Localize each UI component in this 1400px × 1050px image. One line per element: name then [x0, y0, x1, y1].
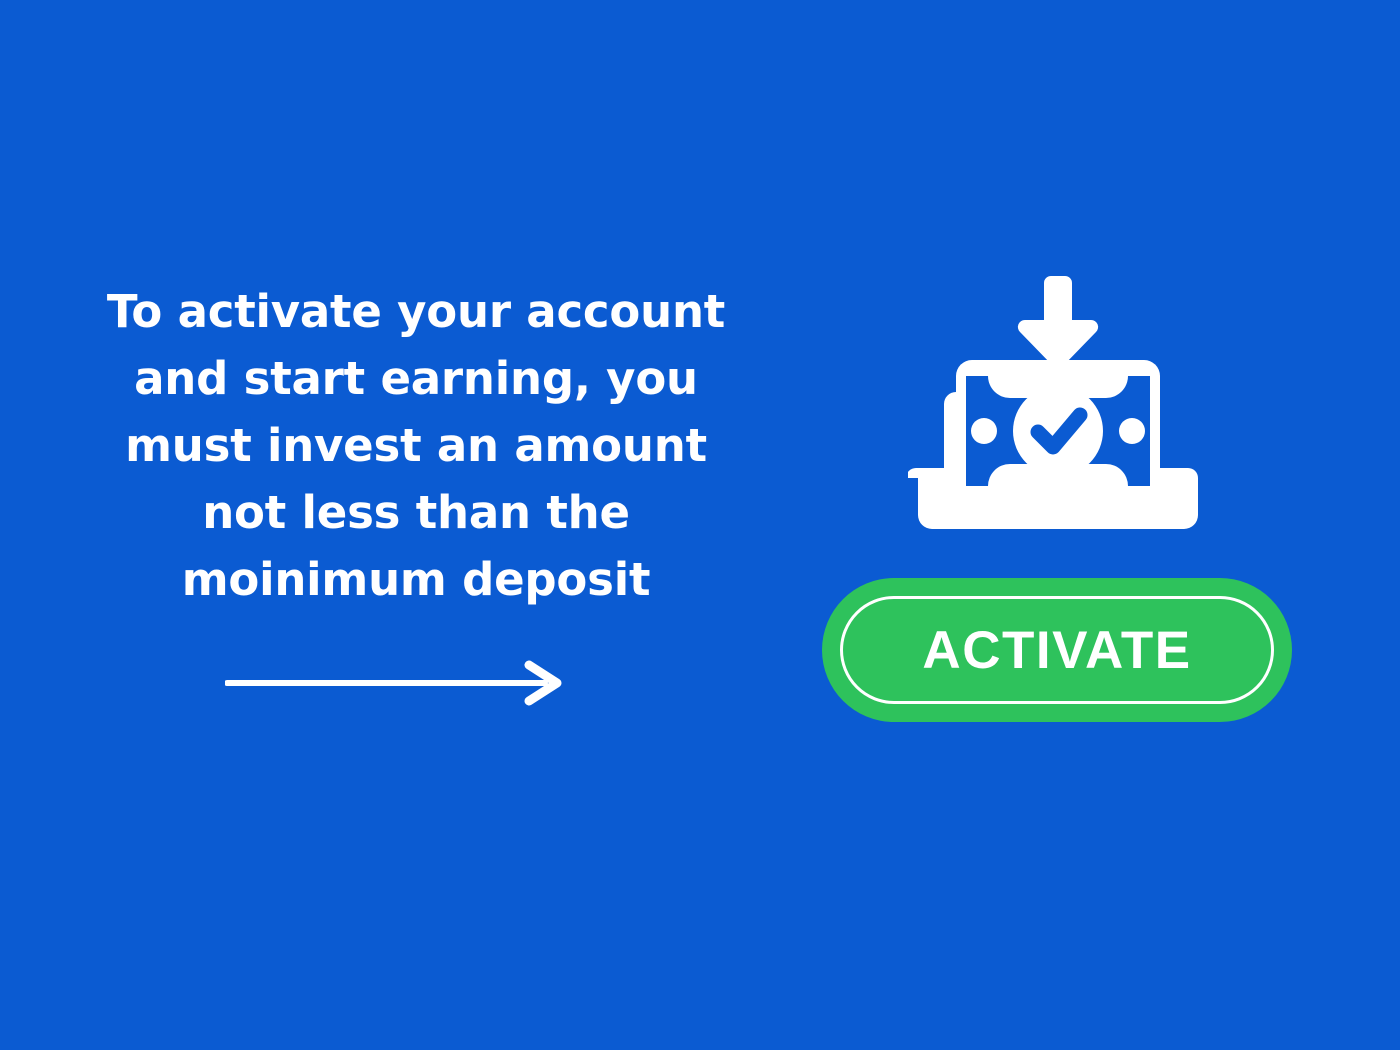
down-arrow-icon: [1018, 276, 1098, 368]
deposit-money-icon: [908, 272, 1208, 540]
note-dot-right: [1119, 418, 1145, 444]
activate-button-label: ACTIVATE: [922, 624, 1191, 677]
promo-slide: To activate your account and start earni…: [0, 0, 1400, 1050]
long-right-arrow-icon: [225, 655, 565, 711]
note-dot-left: [971, 418, 997, 444]
activate-button[interactable]: ACTIVATE: [822, 578, 1292, 722]
check-circle-icon: [1013, 386, 1103, 476]
page-title: To activate your account and start earni…: [96, 278, 736, 613]
